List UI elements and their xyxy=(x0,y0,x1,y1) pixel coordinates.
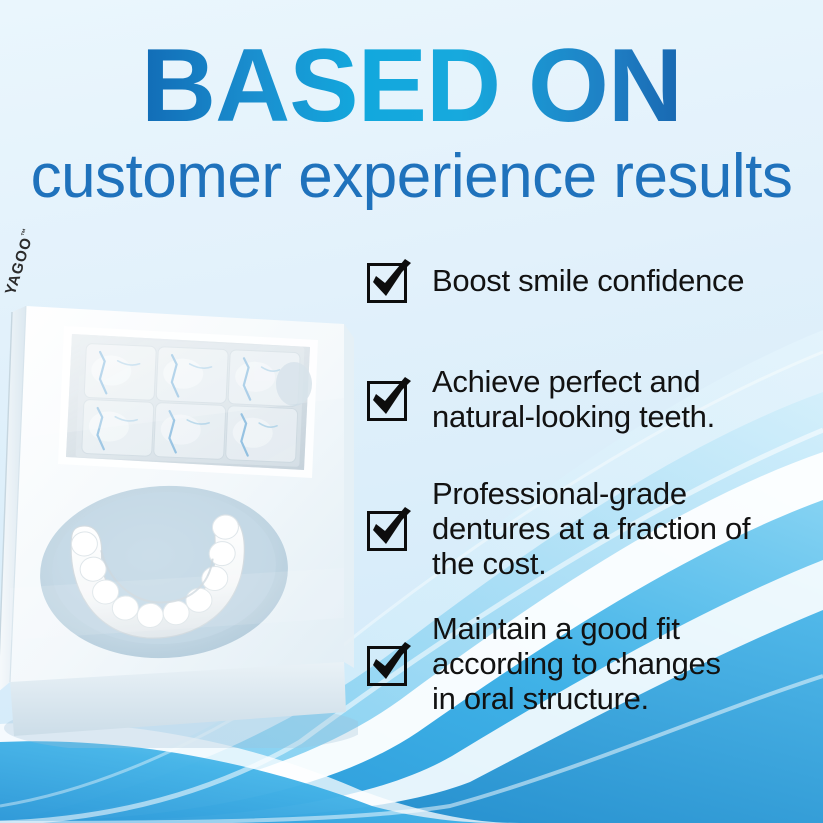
checkbox-checked-icon xyxy=(366,506,412,552)
list-item: Maintain a good fitaccording to changesi… xyxy=(366,611,818,716)
list-item-label: Boost smile confidence xyxy=(432,263,744,298)
checkbox-checked-icon xyxy=(366,641,412,687)
product-photo xyxy=(0,288,358,748)
page-subtitle: customer experience results xyxy=(0,144,823,209)
list-item: Achieve perfect andnatural-looking teeth… xyxy=(366,364,818,434)
list-item-label: Maintain a good fitaccording to changesi… xyxy=(432,611,721,716)
checkbox-checked-icon xyxy=(366,376,412,422)
list-item: Professional-gradedentures at a fraction… xyxy=(366,476,818,581)
brand-watermark: YAGOO™ xyxy=(2,227,38,296)
trademark-symbol: ™ xyxy=(19,227,30,237)
benefits-checklist: Boost smile confidence Achieve perfect a… xyxy=(366,258,818,716)
advertisement-canvas: BASED ON customer experience results xyxy=(0,0,823,823)
page-title: BASED ON xyxy=(0,34,823,138)
list-item: Boost smile confidence xyxy=(366,258,818,304)
headline-block: BASED ON customer experience results xyxy=(0,34,823,209)
list-item-label: Professional-gradedentures at a fraction… xyxy=(432,476,750,581)
list-item-label: Achieve perfect andnatural-looking teeth… xyxy=(432,364,715,434)
checkbox-checked-icon xyxy=(366,258,412,304)
